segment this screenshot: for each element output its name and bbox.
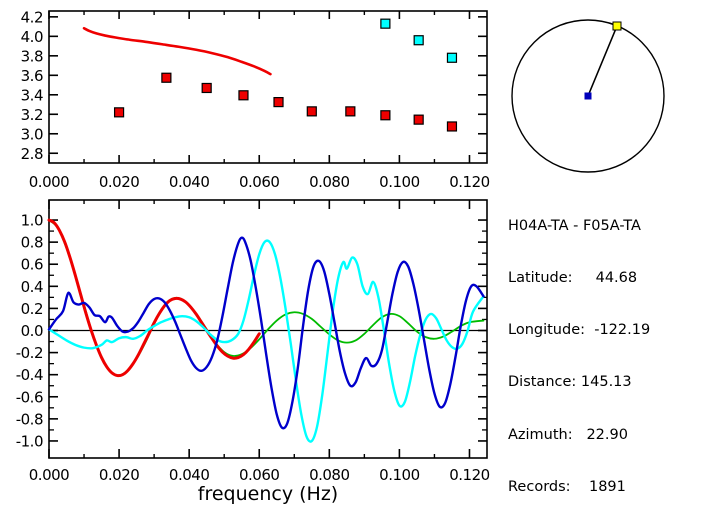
azimuth-center-station-marker (585, 93, 592, 100)
dispersion-x-ticklabels: 0.0000.0200.0400.0600.0800.1000.120 (29, 173, 490, 191)
data-point-marker (115, 108, 124, 117)
y-tick-label: 1.0 (21, 212, 43, 230)
x-tick-label: 0.080 (309, 173, 349, 191)
data-point-marker (307, 107, 316, 116)
y-tick-label: 0.2 (21, 300, 43, 318)
x-tick-label: 0.000 (29, 173, 69, 191)
data-point-marker (447, 122, 456, 131)
y-tick-label: 0.6 (21, 256, 43, 274)
spectra-curves (49, 220, 487, 442)
dispersion-y-ticklabels: 2.83.03.23.43.63.84.04.2 (21, 8, 43, 162)
y-tick-label: -0.6 (16, 388, 43, 406)
data-point-marker (202, 83, 211, 92)
data-point-marker (447, 53, 456, 62)
y-tick-label: 0.4 (21, 278, 43, 296)
x-tick-label: 0.100 (379, 173, 419, 191)
y-tick-label: 4.2 (21, 8, 43, 26)
x-tick-label: 0.000 (29, 466, 69, 484)
y-tick-label: 2.8 (21, 145, 43, 163)
x-tick-label: 0.040 (169, 173, 209, 191)
y-tick-label: -0.8 (16, 410, 43, 428)
y-tick-label: 3.4 (21, 86, 43, 104)
dispersion-axes-frame (49, 11, 487, 163)
y-tick-label: 3.2 (21, 106, 43, 124)
spectra-x-ticklabels: 0.0000.0200.0400.0600.0800.1000.120 (29, 466, 490, 484)
dispersion-data-points (115, 19, 457, 131)
y-tick-label: 3.6 (21, 67, 43, 85)
dispersion-reference-curve (84, 28, 270, 74)
data-point-marker (239, 91, 248, 100)
x-tick-label: 0.120 (449, 173, 489, 191)
y-tick-label: 3.8 (21, 47, 43, 65)
cross-correlation-cyan-curve (49, 241, 484, 442)
azimuth-ray (588, 26, 617, 96)
x-tick-label: 0.080 (309, 466, 349, 484)
azimuth-remote-station-marker (613, 22, 621, 30)
y-tick-label: 4.0 (21, 28, 43, 46)
x-tick-label: 0.040 (169, 466, 209, 484)
x-tick-label: 0.120 (449, 466, 489, 484)
data-point-marker (346, 107, 355, 116)
y-tick-label: 0.0 (21, 322, 43, 340)
data-point-marker (162, 73, 171, 82)
azimuth-diagram (502, 4, 702, 184)
y-tick-label: -0.2 (16, 344, 43, 362)
y-tick-label: 3.0 (21, 125, 43, 143)
data-point-marker (381, 111, 390, 120)
x-tick-label: 0.060 (239, 173, 279, 191)
y-tick-label: -1.0 (16, 432, 43, 450)
dispersion-curves (84, 28, 270, 74)
x-tick-label: 0.020 (99, 466, 139, 484)
figure-root: 2.83.03.23.43.63.84.04.2 0.0000.0200.040… (0, 0, 702, 519)
x-tick-label: 0.100 (379, 466, 419, 484)
data-point-marker (414, 115, 423, 124)
x-tick-label: 0.020 (99, 173, 139, 191)
data-point-marker (274, 98, 283, 107)
spectra-y-ticklabels: -1.0-0.8-0.6-0.4-0.20.00.20.40.60.81.0 (16, 212, 43, 451)
y-tick-label: 0.8 (21, 234, 43, 252)
spectra-panel: -1.0-0.8-0.6-0.4-0.20.00.20.40.60.81.0 0… (0, 195, 702, 519)
x-tick-label: 0.060 (239, 466, 279, 484)
data-point-marker (381, 19, 390, 28)
y-tick-label: -0.4 (16, 366, 43, 384)
data-point-marker (414, 36, 423, 45)
spectra-x-axis-title: frequency (Hz) (198, 483, 338, 505)
